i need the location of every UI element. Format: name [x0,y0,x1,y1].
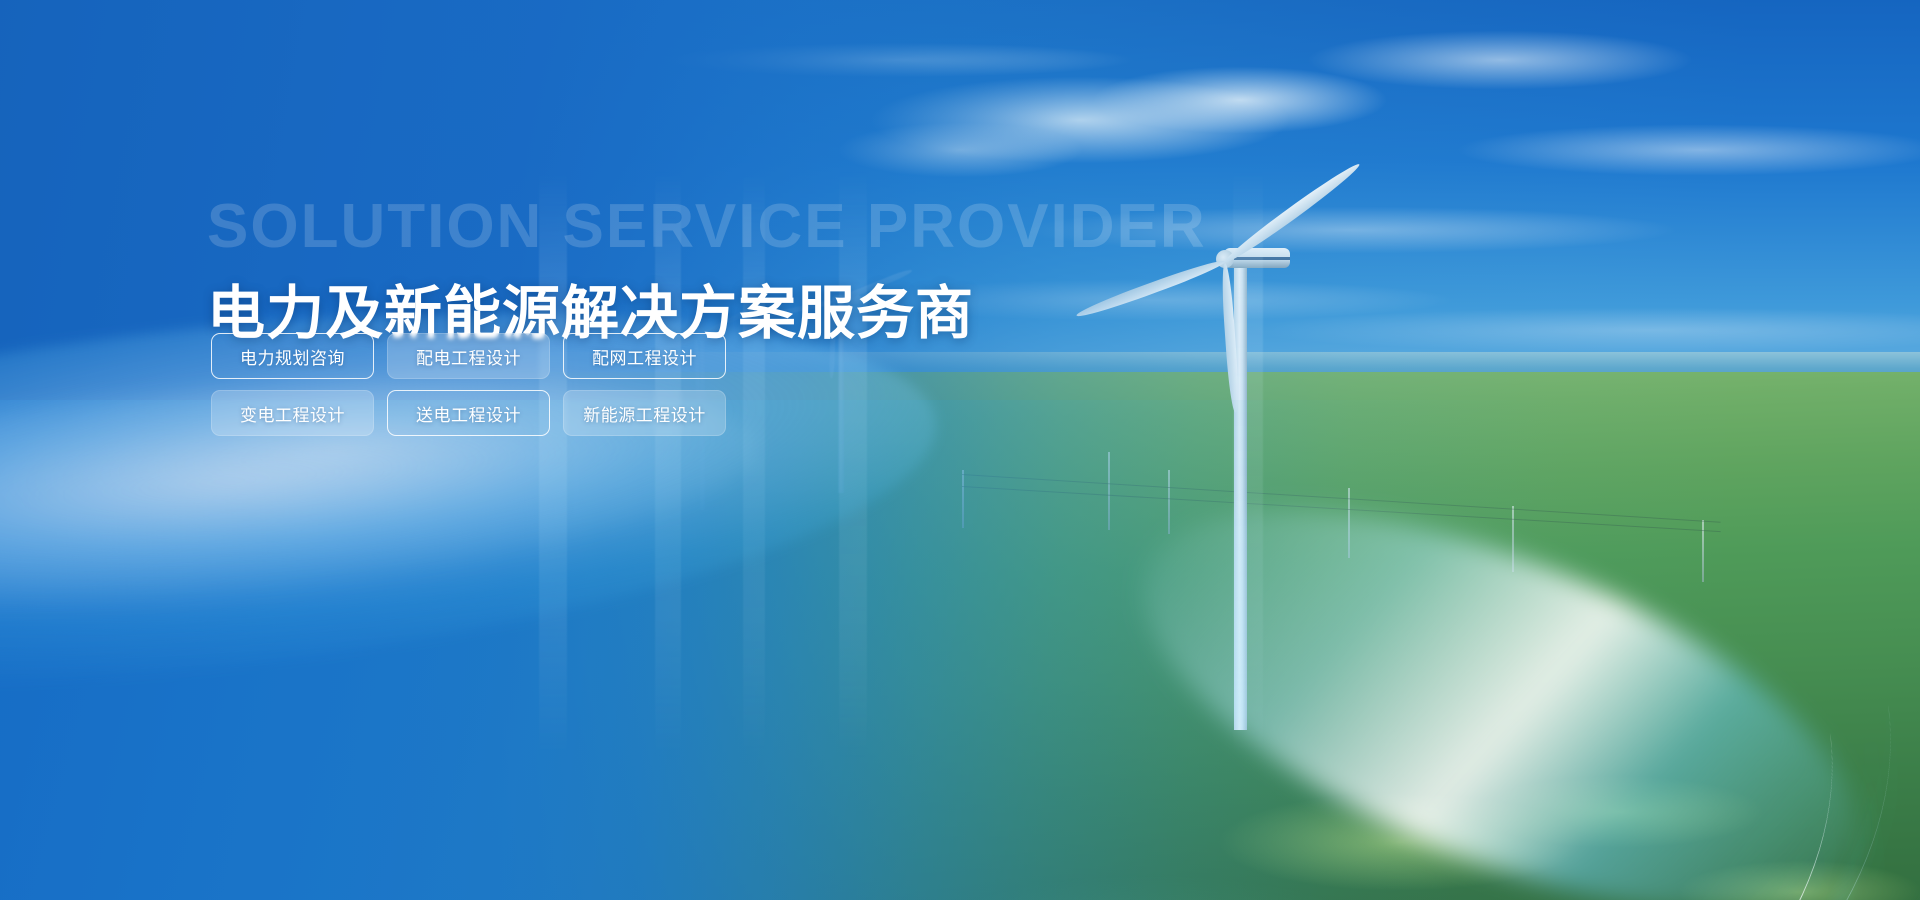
service-button-substation-design[interactable]: 变电工程设计 [211,390,374,436]
service-button-transmission-design[interactable]: 送电工程设计 [387,390,550,436]
service-button-distribution-design[interactable]: 配电工程设计 [387,333,550,379]
service-button-grid-design[interactable]: 配网工程设计 [563,333,726,379]
service-button-grid: 电力规划咨询 配电工程设计 配网工程设计 变电工程设计 送电工程设计 新能源工程… [211,333,726,436]
service-button-power-planning[interactable]: 电力规划咨询 [211,333,374,379]
service-button-new-energy-design[interactable]: 新能源工程设计 [563,390,726,436]
hero-banner: SOLUTION SERVICE PROVIDER 电力及新能源解决方案服务商 … [0,0,1920,900]
banner-content: SOLUTION SERVICE PROVIDER 电力及新能源解决方案服务商 … [0,0,1920,900]
banner-ghost-title: SOLUTION SERVICE PROVIDER [207,196,1207,258]
